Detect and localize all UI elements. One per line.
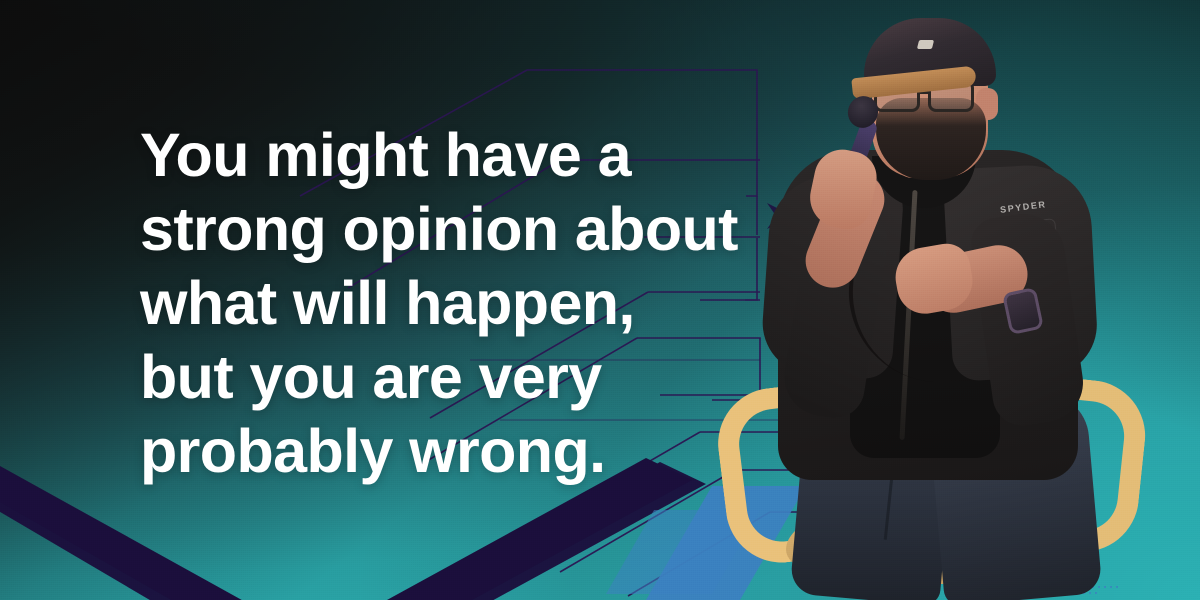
headline-line-5: probably wrong. <box>140 414 780 488</box>
headline-line-4: but you are very <box>140 340 780 414</box>
promo-banner: SPYDER You might have a strong opinion a… <box>0 0 1200 600</box>
headline-line-1: You might have a <box>140 118 780 192</box>
headline-quote: You might have a strong opinion about wh… <box>140 118 780 488</box>
headline-line-2: strong opinion about <box>140 192 780 266</box>
cap-logo-icon <box>917 40 934 49</box>
headline-line-3: what will happen, <box>140 266 780 340</box>
